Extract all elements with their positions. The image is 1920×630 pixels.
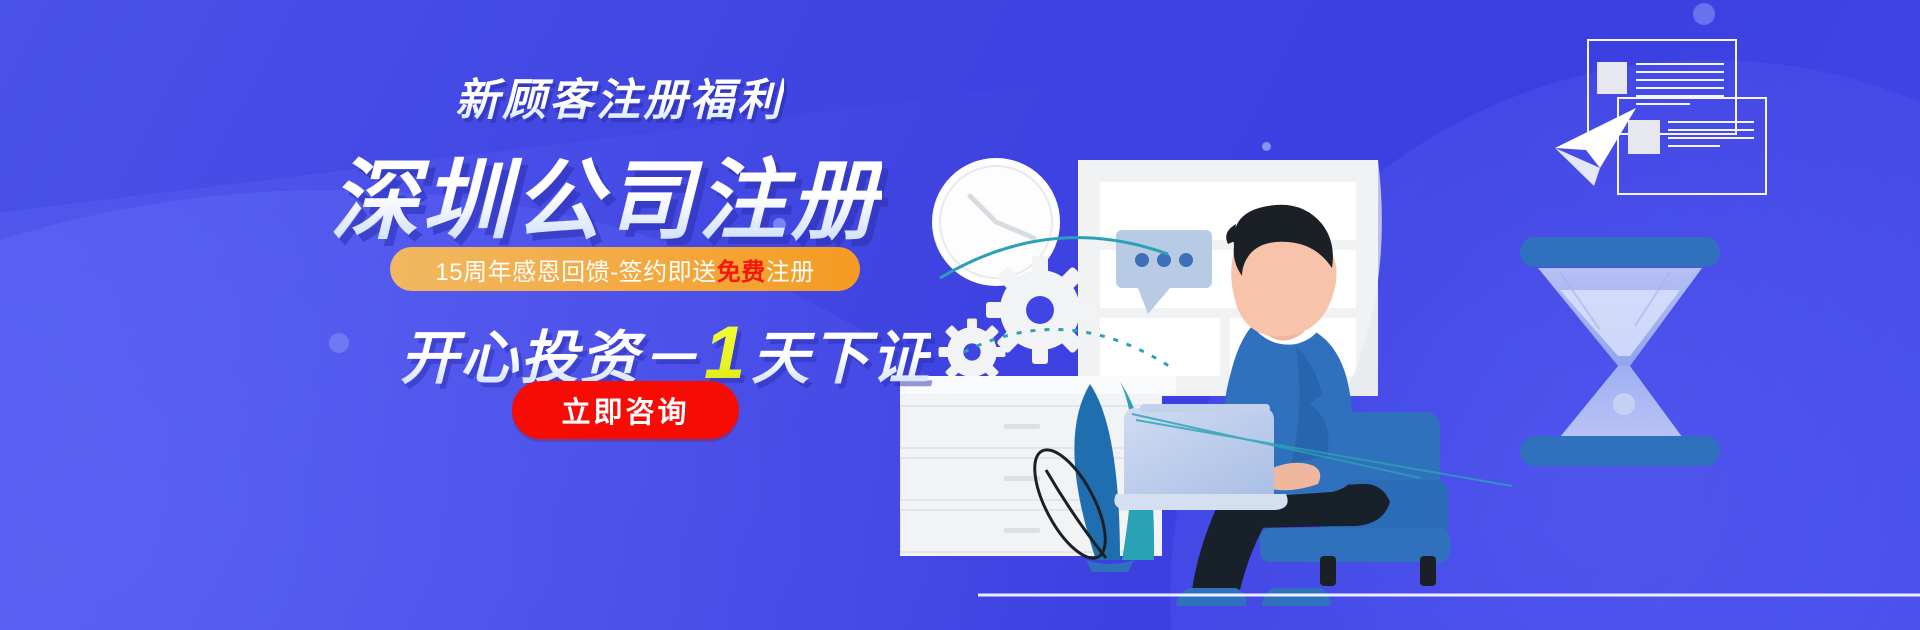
promo-pill-text: 15周年感恩回馈-签约即送 免费 注册 — [435, 252, 814, 287]
promo-pill-highlight: 免费 — [717, 252, 766, 287]
banner-headline: 深圳公司注册 — [330, 130, 882, 257]
tagline-suffix: 天下证 — [751, 311, 931, 395]
promo-pill-badge: 15周年感恩回馈-签约即送 免费 注册 — [390, 247, 860, 291]
hero-illustration — [900, 0, 1920, 630]
consult-now-button[interactable]: 立即咨询 — [512, 381, 739, 439]
promo-pill-suffix: 注册 — [766, 252, 815, 287]
consult-now-label: 立即咨询 — [561, 389, 689, 431]
promo-banner: 新顾客注册福利 深圳公司注册 15周年感恩回馈-签约即送 免费 注册 开心投资－… — [0, 0, 1920, 630]
banner-kicker: 新顾客注册福利 — [455, 64, 784, 128]
paper-plane-icon — [1555, 108, 1636, 186]
promo-pill-prefix: 15周年感恩回馈-签约即送 — [435, 252, 716, 287]
hourglass-icon — [1520, 237, 1720, 466]
banner-copy: 新顾客注册福利 深圳公司注册 15周年感恩回馈-签约即送 免费 注册 开心投资－… — [0, 0, 960, 630]
document-cards-icon — [1588, 40, 1766, 194]
